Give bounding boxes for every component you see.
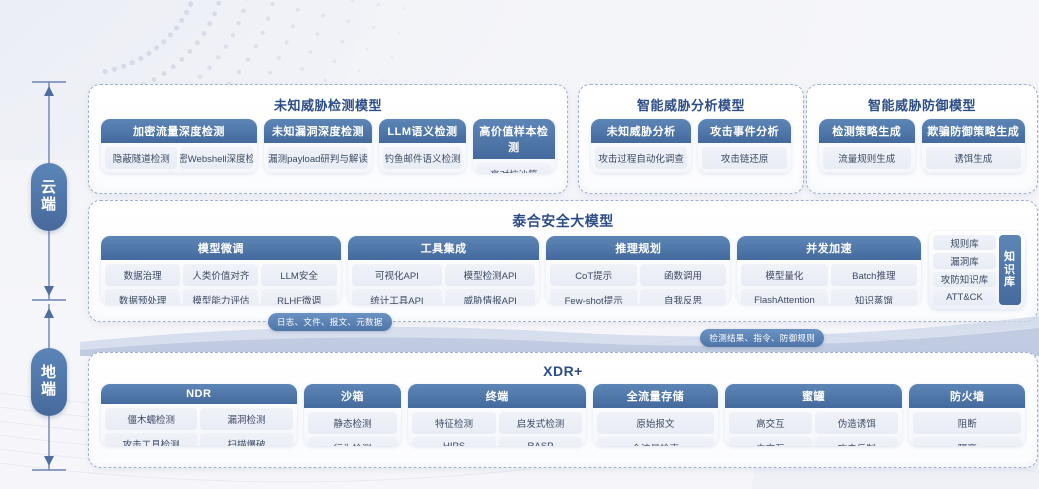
- capability-card[interactable]: 终端特征检测启发式检测HIPSRASP系统日志应用日志: [408, 384, 586, 446]
- capability-card[interactable]: 高价值样本检测高对抗沙箱样本养殖: [473, 119, 555, 173]
- capability-row: 阻断: [913, 412, 1021, 434]
- capability-chip[interactable]: FlashAttention: [741, 289, 827, 304]
- data-flow-band: 日志、文件、报文、元数据 检测结果、指令、防御规则: [80, 312, 1029, 356]
- capability-card-body: 攻击链还原报告生成: [698, 143, 791, 173]
- capability-chip[interactable]: 钓鱼邮件语义检测: [383, 147, 462, 169]
- capability-chip[interactable]: 漏洞检测: [200, 408, 292, 430]
- capability-row: 报告生成: [702, 172, 787, 173]
- capability-card[interactable]: 推理规划CoT提示函数调用Few-shot提示自我反思Zero-shot提示Re…: [546, 236, 730, 304]
- capability-chip[interactable]: 阻断: [913, 412, 1021, 434]
- capability-row: 全流量检索: [597, 437, 713, 446]
- capability-chip[interactable]: 行为检测: [308, 437, 398, 446]
- capability-card-title: 未知威胁分析: [591, 119, 691, 143]
- capability-card-title: 欺骗防御策略生成: [922, 119, 1025, 143]
- knowledge-base-panel: 规则库漏洞库攻防知识库ATT&CK 知识库: [929, 231, 1025, 309]
- capability-card-title: 全流量存储: [593, 384, 717, 408]
- capability-chip[interactable]: 扫描爆破: [200, 433, 292, 446]
- capability-chip[interactable]: 报告生成: [702, 172, 787, 173]
- capability-card-body: 高交互伪造诱饵中交互攻击反制低交互攻击溯源: [725, 408, 903, 446]
- capability-row: 高对抗沙箱: [477, 163, 551, 173]
- capability-chip[interactable]: 攻击反制: [815, 437, 898, 446]
- capability-chip[interactable]: 伪造诱饵: [815, 412, 898, 434]
- capability-row: 静态检测: [308, 412, 398, 434]
- capability-chip[interactable]: Batch推理: [831, 264, 917, 286]
- capability-card-body: 诱饵生成仿真蜜罐生成: [922, 143, 1025, 173]
- capability-card-title: 沙箱: [304, 384, 402, 408]
- section-security-large-model: 泰合安全大模型 模型微调数据治理人类价值对齐LLM安全数据预处理模型能力评估RL…: [88, 200, 1038, 322]
- capability-chip[interactable]: 自我反思: [640, 289, 726, 304]
- capability-row: 数据预处理模型能力评估RLHF微调: [105, 289, 337, 304]
- capability-card[interactable]: 防火墙阻断隔离搜索引擎API: [909, 384, 1025, 446]
- capability-card[interactable]: 未知威胁分析攻击过程自动化调查攻击报文自动狩猎: [591, 119, 691, 173]
- capability-chip[interactable]: Few-shot提示: [550, 289, 636, 304]
- capability-row: 仿真蜜罐生成: [926, 172, 1021, 173]
- capability-chip[interactable]: 模型量化: [741, 264, 827, 286]
- capability-card-body: 可视化API模型检测API统计工具API威胁情报API搜索引擎API特征检测AP…: [348, 260, 540, 304]
- capability-row: 僵木蠕检测漏洞检测: [105, 408, 293, 430]
- capability-chip[interactable]: 流量规则生成: [823, 147, 911, 169]
- capability-chip[interactable]: HIPS: [412, 437, 495, 446]
- capability-chip[interactable]: 知识蒸馏: [831, 289, 917, 304]
- capability-card-body: 特征检测启发式检测HIPSRASP系统日志应用日志: [408, 408, 586, 446]
- capability-card-title: 模型微调: [101, 236, 341, 260]
- knowledge-base-item[interactable]: 规则库: [933, 235, 996, 250]
- layer-label-char: 端: [41, 382, 57, 399]
- capability-card-body: 静态检测行为检测漏洞检测: [304, 408, 402, 446]
- capability-row: 漏测payload研判与解读: [268, 147, 368, 169]
- capability-card-title: 推理规划: [546, 236, 730, 260]
- capability-chip[interactable]: 全流量检索: [597, 437, 713, 446]
- section-xdr-plus: XDR+ NDR僵木蠕检测漏洞检测攻击工具检测扫描爆破横向移动检测Webshel…: [88, 352, 1038, 468]
- capability-chip[interactable]: 中交互: [729, 437, 812, 446]
- capability-row: Web攻击语义检测: [383, 172, 462, 173]
- capability-row: 隐蔽隧道检测加密Webshell深度检测: [105, 147, 253, 169]
- capability-chip[interactable]: 数据预处理: [105, 289, 180, 304]
- capability-chip[interactable]: 加密VPN检测: [105, 172, 177, 173]
- capability-row: 模型量化Batch推理: [741, 264, 917, 286]
- section-threat-defense: 智能威胁防御模型 检测策略生成流量规则生成样本专杀生成欺骗防御策略生成诱饵生成仿…: [806, 84, 1038, 194]
- capability-card[interactable]: LLM语义检测钓鱼邮件语义检测Web攻击语义检测: [379, 119, 466, 173]
- capability-chip[interactable]: 加密Webshell深度检测: [180, 147, 252, 169]
- layer-axis: 云端 地端: [18, 78, 80, 478]
- capability-card-body: 阻断隔离搜索引擎API: [909, 408, 1025, 446]
- capability-chip[interactable]: 攻击过程自动化调查: [595, 147, 687, 169]
- section-unknown-threat-detection: 未知威胁检测模型 加密流量深度检测隐蔽隧道检测加密Webshell深度检测加密V…: [88, 84, 568, 194]
- capability-chip[interactable]: 静态检测: [308, 412, 398, 434]
- capability-chip[interactable]: 启发式检测: [499, 412, 582, 434]
- capability-card-body: 流量规则生成样本专杀生成: [819, 143, 915, 173]
- capability-chip[interactable]: RLHF微调: [261, 289, 336, 304]
- diagram-canvas: 云端 地端 未知威胁检测模型 加密流量深度检测隐蔽隧道检测加密Webshell深…: [0, 0, 1039, 489]
- knowledge-base-item[interactable]: 攻防知识库: [933, 272, 996, 287]
- capability-row: 攻击报文自动狩猎: [595, 172, 687, 173]
- capability-chip[interactable]: 加密代理检测: [180, 172, 252, 173]
- capability-chip[interactable]: Web攻击语义检测: [383, 172, 462, 173]
- capability-chip[interactable]: 僵木蠕检测: [105, 408, 197, 430]
- capability-chip[interactable]: 攻击链还原: [702, 147, 787, 169]
- capability-card-title: 高价值样本检测: [473, 119, 555, 159]
- capability-chip[interactable]: 诱饵生成: [926, 147, 1021, 169]
- capability-row: 钓鱼邮件语义检测: [383, 147, 462, 169]
- capability-chip[interactable]: 人类价值对齐: [183, 264, 258, 286]
- capability-chip[interactable]: 高对抗沙箱: [477, 163, 551, 173]
- capability-card-title: 终端: [408, 384, 586, 408]
- capability-chip[interactable]: 函数调用: [640, 264, 726, 286]
- capability-row: 特征检测启发式检测: [412, 412, 582, 434]
- capability-row: 攻击工具检测扫描爆破: [105, 433, 293, 446]
- capability-card-body: 攻击过程自动化调查攻击报文自动狩猎: [591, 143, 691, 173]
- capability-chip[interactable]: LLM安全: [261, 264, 336, 286]
- knowledge-base-item[interactable]: 漏洞库: [933, 253, 996, 268]
- capability-chip[interactable]: 隐蔽隧道检测: [105, 147, 177, 169]
- capability-card-body: 原始报文全流量检索元数据: [593, 408, 717, 446]
- capability-card-body: 数据治理人类价值对齐LLM安全数据预处理模型能力评估RLHF微调垂域数据搜集Lo…: [101, 260, 341, 304]
- capability-row: CoT提示函数调用: [550, 264, 726, 286]
- capability-card-body: 模型量化Batch推理FlashAttention知识蒸馏KV-CachePro…: [737, 260, 921, 304]
- capability-card-title: 工具集成: [348, 236, 540, 260]
- capability-row: 原始报文: [597, 412, 713, 434]
- capability-card-body: 漏测payload研判与解读仿真探测0day信息检索: [264, 143, 372, 173]
- capability-chip[interactable]: 统计工具API: [352, 289, 442, 304]
- capability-row: FlashAttention知识蒸馏: [741, 289, 917, 304]
- section-title: XDR+: [93, 357, 1033, 384]
- capability-chip[interactable]: 漏测payload研判与解读: [268, 147, 368, 169]
- capability-row: 攻击过程自动化调查: [595, 147, 687, 169]
- capability-card[interactable]: 检测策略生成流量规则生成样本专杀生成: [819, 119, 915, 173]
- capability-chip[interactable]: 仿真蜜罐生成: [926, 172, 1021, 173]
- capability-chip[interactable]: 0day信息检索: [320, 172, 369, 173]
- capability-card-body: 僵木蠕检测漏洞检测攻击工具检测扫描爆破横向移动检测Webshell检测: [101, 404, 297, 446]
- capability-row: 可视化API模型检测API: [352, 264, 536, 286]
- capability-chip[interactable]: 样本专杀生成: [823, 172, 911, 173]
- capability-card[interactable]: NDR僵木蠕检测漏洞检测攻击工具检测扫描爆破横向移动检测Webshell检测: [101, 384, 297, 446]
- capability-chip[interactable]: 仿真探测: [268, 172, 317, 173]
- capability-card-title: 检测策略生成: [819, 119, 915, 143]
- capability-card-title: 攻击事件分析: [698, 119, 791, 143]
- capability-row: 隔离: [913, 437, 1021, 446]
- capability-card[interactable]: 工具集成可视化API模型检测API统计工具API威胁情报API搜索引擎API特征…: [348, 236, 540, 304]
- capability-card-title: 加密流量深度检测: [101, 119, 257, 143]
- layer-label-ground: 地端: [31, 348, 67, 416]
- capability-card[interactable]: 攻击事件分析攻击链还原报告生成: [698, 119, 791, 173]
- capability-card-body: 钓鱼邮件语义检测Web攻击语义检测: [379, 143, 466, 173]
- capability-card[interactable]: 欺骗防御策略生成诱饵生成仿真蜜罐生成: [922, 119, 1025, 173]
- flow-label-uplink: 日志、文件、报文、元数据: [268, 313, 392, 331]
- capability-row: 仿真探测0day信息检索: [268, 172, 368, 173]
- capability-row: 行为检测: [308, 437, 398, 446]
- capability-card[interactable]: 蜜罐高交互伪造诱饵中交互攻击反制低交互攻击溯源: [725, 384, 903, 446]
- capability-row: 统计工具API威胁情报API: [352, 289, 536, 304]
- capability-chip[interactable]: 特征检测: [412, 412, 495, 434]
- capability-chip[interactable]: 攻击工具检测: [105, 433, 197, 446]
- capability-chip[interactable]: RASP: [499, 437, 582, 446]
- capability-row: Few-shot提示自我反思: [550, 289, 726, 304]
- capability-chip[interactable]: 模型能力评估: [183, 289, 258, 304]
- capability-chip[interactable]: 攻击报文自动狩猎: [595, 172, 687, 173]
- capability-card[interactable]: 加密流量深度检测隐蔽隧道检测加密Webshell深度检测加密VPN检测加密代理检…: [101, 119, 257, 173]
- layer-label-char: 端: [41, 197, 57, 214]
- knowledge-base-label-char: 库: [1004, 276, 1016, 289]
- capability-row: 流量规则生成: [823, 147, 911, 169]
- layer-label-char: 云: [41, 180, 57, 197]
- capability-row: 诱饵生成: [926, 147, 1021, 169]
- section-title: 智能威胁防御模型: [811, 89, 1033, 119]
- capability-chip[interactable]: 可视化API: [352, 264, 442, 286]
- capability-card[interactable]: 全流量存储原始报文全流量检索元数据: [593, 384, 717, 446]
- knowledge-base-label: 知识库: [999, 235, 1021, 305]
- capability-card-title: NDR: [101, 384, 297, 404]
- layer-label-char: 地: [41, 365, 57, 382]
- capability-card[interactable]: 未知漏洞深度检测漏测payload研判与解读仿真探测0day信息检索: [264, 119, 372, 173]
- capability-chip[interactable]: 模型检测API: [445, 264, 535, 286]
- section-threat-analysis: 智能威胁分析模型 未知威胁分析攻击过程自动化调查攻击报文自动狩猎攻击事件分析攻击…: [578, 84, 804, 194]
- capability-row: 中交互攻击反制: [729, 437, 899, 446]
- flow-label-downlink: 检测结果、指令、防御规则: [700, 329, 824, 347]
- capability-row: 数据治理人类价值对齐LLM安全: [105, 264, 337, 286]
- capability-card[interactable]: 并发加速模型量化Batch推理FlashAttention知识蒸馏KV-Cach…: [737, 236, 921, 304]
- capability-row: 攻击链还原: [702, 147, 787, 169]
- capability-card-title: 蜜罐: [725, 384, 903, 408]
- capability-card-title: 防火墙: [909, 384, 1025, 408]
- section-title: 泰合安全大模型: [93, 205, 1033, 236]
- capability-chip[interactable]: 隔离: [913, 437, 1021, 446]
- capability-card-body: 高对抗沙箱样本养殖: [473, 159, 555, 173]
- capability-row: HIPSRASP: [412, 437, 582, 446]
- capability-card-title: 未知漏洞深度检测: [264, 119, 372, 143]
- capability-card-body: CoT提示函数调用Few-shot提示自我反思Zero-shot提示ReACT框…: [546, 260, 730, 304]
- section-title: 智能威胁分析模型: [583, 89, 799, 119]
- capability-card-title: LLM语义检测: [379, 119, 466, 143]
- capability-chip[interactable]: 威胁情报API: [445, 289, 535, 304]
- knowledge-base-label-char: 知: [1004, 251, 1016, 264]
- capability-card-body: 隐蔽隧道检测加密Webshell深度检测加密VPN检测加密代理检测: [101, 143, 257, 173]
- knowledge-base-item[interactable]: ATT&CK: [933, 290, 996, 305]
- capability-card[interactable]: 模型微调数据治理人类价值对齐LLM安全数据预处理模型能力评估RLHF微调垂域数据…: [101, 236, 341, 304]
- capability-chip[interactable]: 数据治理: [105, 264, 180, 286]
- capability-card[interactable]: 沙箱静态检测行为检测漏洞检测: [304, 384, 402, 446]
- capability-card-title: 并发加速: [737, 236, 921, 260]
- layer-label-cloud: 云端: [31, 163, 67, 231]
- capability-row: 加密VPN检测加密代理检测: [105, 172, 253, 173]
- capability-row: 样本专杀生成: [823, 172, 911, 173]
- knowledge-base-label-char: 识: [1004, 264, 1016, 277]
- section-title: 未知威胁检测模型: [93, 89, 563, 119]
- capability-row: 高交互伪造诱饵: [729, 412, 899, 434]
- capability-chip[interactable]: 高交互: [729, 412, 812, 434]
- capability-chip[interactable]: 原始报文: [597, 412, 713, 434]
- capability-chip[interactable]: CoT提示: [550, 264, 636, 286]
